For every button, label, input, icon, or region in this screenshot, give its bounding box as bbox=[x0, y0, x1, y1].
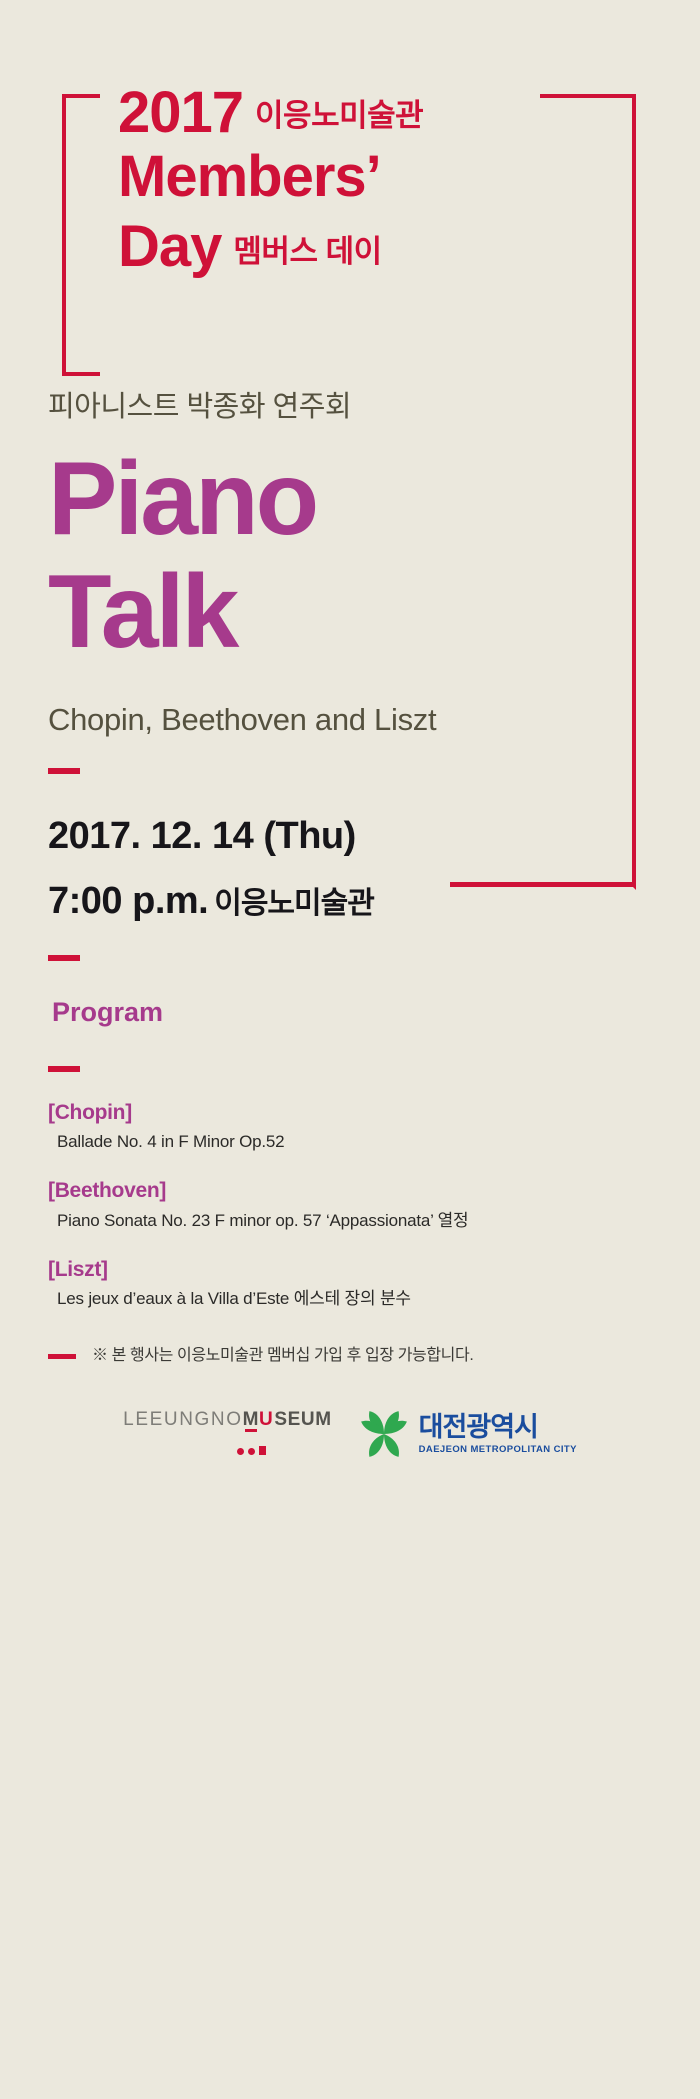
leeungno-m-part: M bbox=[243, 1409, 259, 1430]
program-composer: [Liszt] bbox=[48, 1257, 668, 1283]
header-year-row: 2017이응노미술관 bbox=[118, 84, 423, 142]
event-time: 7:00 p.m. bbox=[48, 880, 208, 922]
event-venue: 이응노미술관 bbox=[214, 887, 374, 920]
bracket-right-decoration bbox=[540, 94, 636, 890]
header-title-row-1: Members’ bbox=[118, 148, 381, 206]
daejeon-city-logo: 대전광역시 DAEJEON METROPOLITAN CITY bbox=[358, 1408, 577, 1460]
event-time-row: 7:00 p.m.이응노미술관 bbox=[48, 878, 374, 923]
program-piece: Ballade No. 4 in F Minor Op.52 bbox=[57, 1131, 668, 1153]
leeungno-museum-logo-text: LEEUNGNOMUSEUM bbox=[123, 1410, 332, 1429]
pianist-subtitle: 피아니스트 박종화 연주회 bbox=[48, 383, 351, 425]
hero-title-talk: Talk bbox=[48, 560, 236, 664]
logo-dot-3 bbox=[259, 1446, 266, 1455]
poster-root: 2017이응노미술관 Members’ Day멤버스 데이 피아니스트 박종화 … bbox=[0, 0, 700, 2099]
event-date: 2017. 12. 14 (Thu) bbox=[48, 815, 356, 858]
daejeon-logo-text: 대전광역시 DAEJEON METROPOLITAN CITY bbox=[419, 1414, 577, 1455]
program-item: [Beethoven] Piano Sonata No. 23 F minor … bbox=[48, 1178, 668, 1231]
bracket-left-decoration bbox=[62, 94, 100, 376]
composers-subtitle: Chopin, Beethoven and Liszt bbox=[48, 702, 436, 738]
program-item: [Liszt] Les jeux d’eaux à la Villa d’Est… bbox=[48, 1257, 668, 1310]
program-composer: [Chopin] bbox=[48, 1100, 668, 1126]
hero-title-piano: Piano bbox=[48, 447, 316, 551]
logo-dot-1 bbox=[237, 1448, 244, 1455]
header-members-word: Members’ bbox=[118, 144, 381, 209]
divider-dash-below-program-heading bbox=[48, 1066, 80, 1072]
footer-logos: LEEUNGNOMUSEUM 대전광역시 bbox=[0, 1408, 700, 1460]
program-composer: [Beethoven] bbox=[48, 1178, 668, 1204]
leeungno-museum-logo: LEEUNGNOMUSEUM bbox=[123, 1408, 332, 1455]
header-day-word: Day bbox=[118, 214, 221, 279]
membership-notice: ※ 본 행사는 이응노미술관 멤버십 가입 후 입장 가능합니다. bbox=[92, 1341, 473, 1365]
header-title-row-2: Day멤버스 데이 bbox=[118, 218, 382, 276]
daejeon-name-en: DAEJEON METROPOLITAN CITY bbox=[419, 1445, 577, 1455]
divider-dash-notice bbox=[48, 1354, 76, 1359]
program-list: [Chopin] Ballade No. 4 in F Minor Op.52 … bbox=[48, 1100, 668, 1335]
header-year: 2017 bbox=[118, 80, 243, 145]
daejeon-name-kr: 대전광역시 bbox=[419, 1414, 577, 1441]
leeungno-u-part: U bbox=[259, 1409, 274, 1430]
logo-dot-2 bbox=[248, 1448, 255, 1455]
leeungno-logo-dots-mark bbox=[147, 1441, 356, 1455]
header-title-kr: 멤버스 데이 bbox=[233, 234, 381, 269]
leeungno-light-part: LEEUNGNO bbox=[123, 1409, 242, 1430]
program-heading: Program bbox=[52, 997, 163, 1028]
leeungno-seum-part: SEUM bbox=[274, 1409, 331, 1430]
program-piece: Les jeux d’eaux à la Villa d’Este 에스테 장의… bbox=[57, 1288, 668, 1310]
divider-dash-above-date bbox=[48, 768, 80, 774]
program-item: [Chopin] Ballade No. 4 in F Minor Op.52 bbox=[48, 1100, 668, 1153]
daejeon-pinwheel-icon bbox=[358, 1408, 410, 1460]
divider-dash-above-program bbox=[48, 955, 80, 961]
program-piece: Piano Sonata No. 23 F minor op. 57 ‘Appa… bbox=[57, 1210, 668, 1232]
bracket-right-foot-decoration bbox=[450, 882, 636, 887]
header-museum-name-kr: 이응노미술관 bbox=[255, 98, 423, 133]
leeungno-logo-bar-mark bbox=[245, 1429, 257, 1432]
